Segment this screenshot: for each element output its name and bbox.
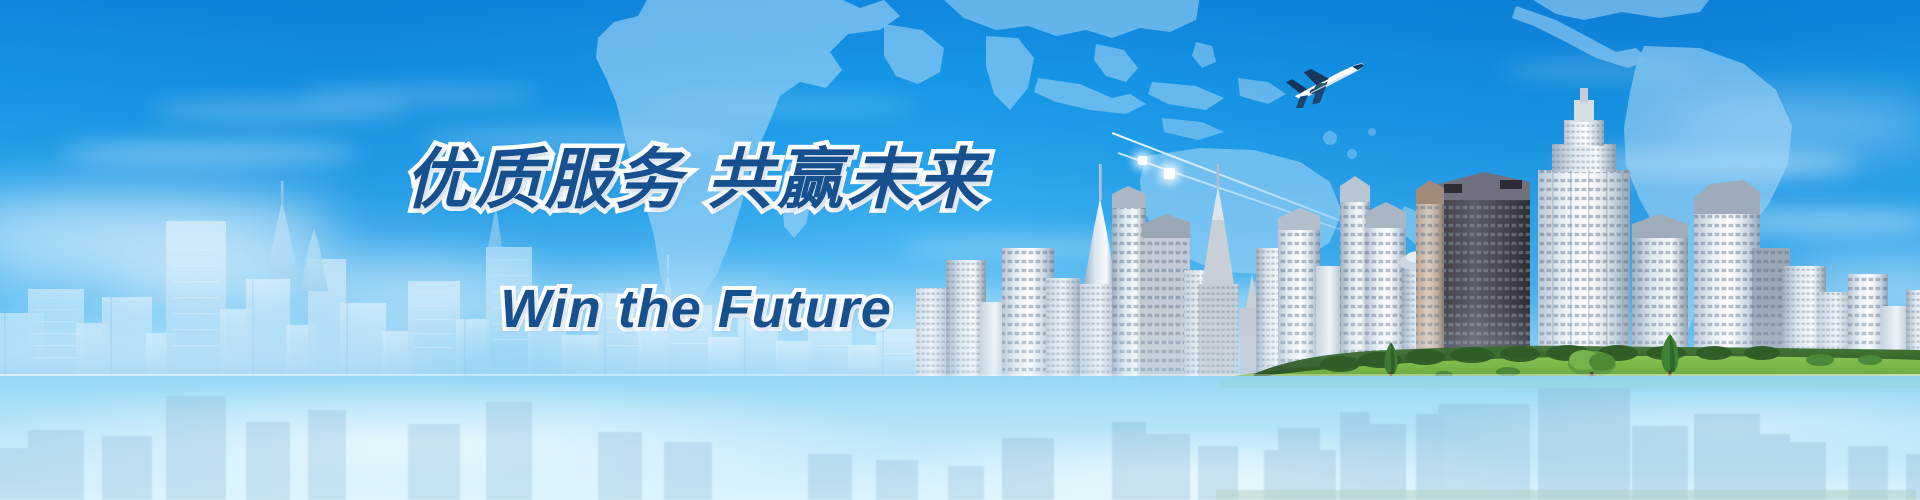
city-reflection-left <box>0 382 1050 500</box>
city-reflection-right <box>916 378 1920 500</box>
faded-city-skyline <box>0 163 1050 378</box>
promotional-banner: 优质服务 共赢未来 Win the Future <box>0 0 1920 500</box>
water-reflection-surface <box>0 376 1920 500</box>
